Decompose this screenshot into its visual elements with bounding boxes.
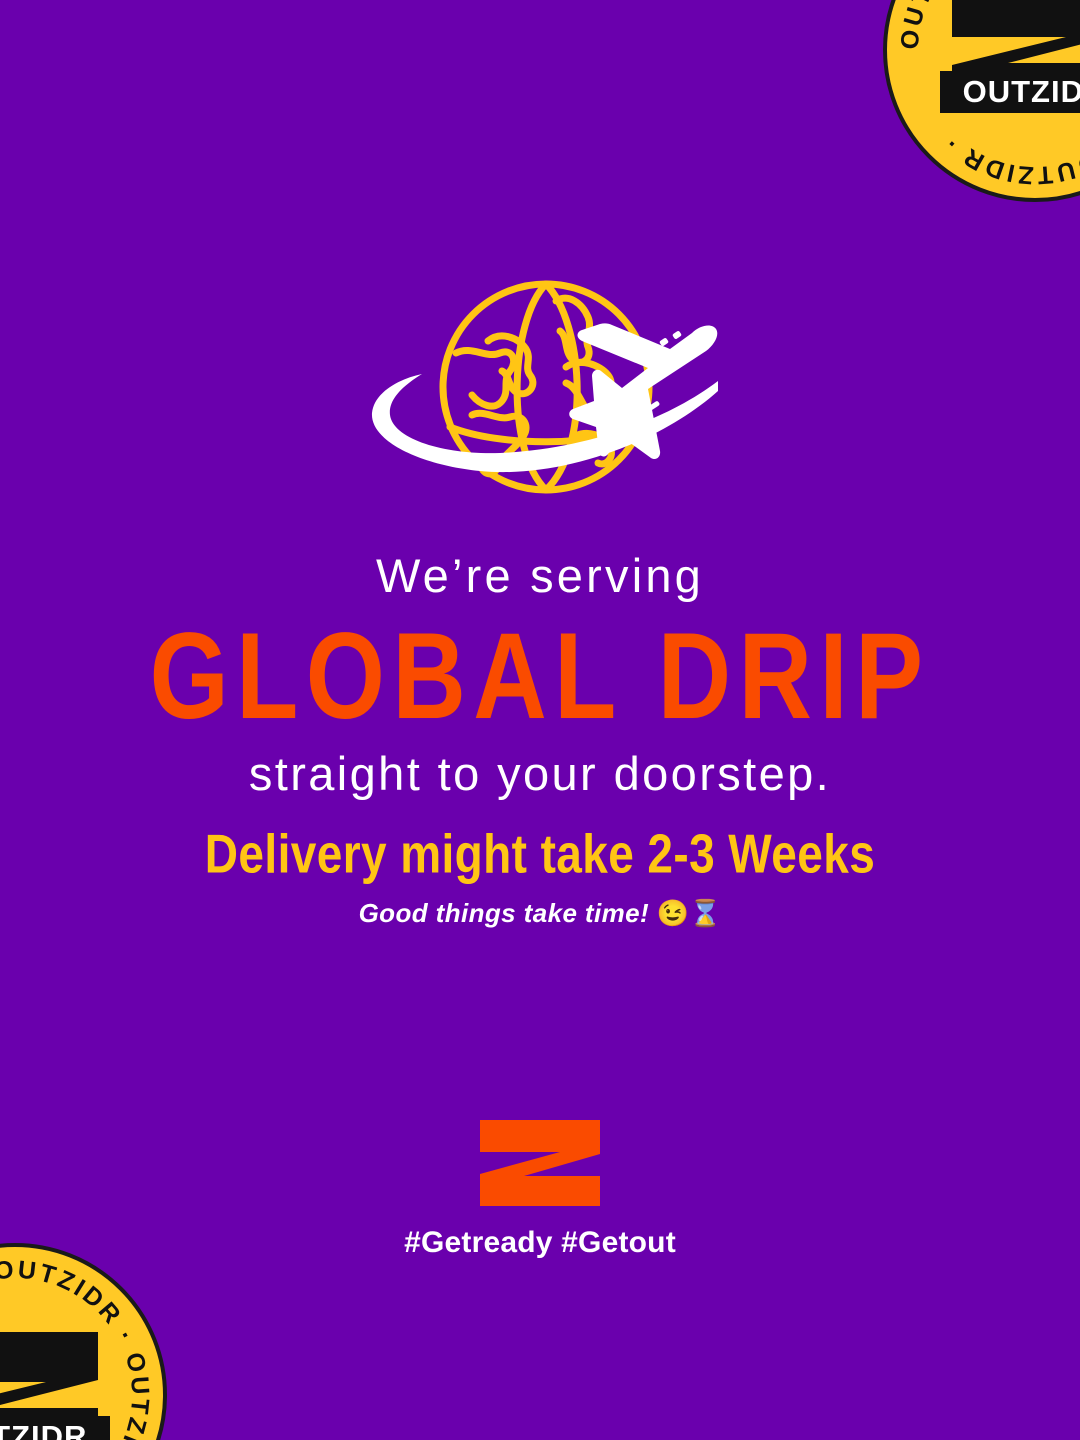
delivery-notice-block: Delivery might take 2-3 Weeks Good thing… <box>0 822 1080 929</box>
delivery-subtext: Good things take time! 😉⌛ <box>0 898 1080 929</box>
globe-with-airplane-icon <box>360 275 720 510</box>
global-drip-headline: GLOBAL DRIP <box>0 613 1080 742</box>
delivery-headline: Delivery might take 2-3 Weeks <box>0 822 1080 886</box>
winking-face-emoji-icon: 😉 <box>657 898 689 928</box>
hashtags-line: #Getready #Getout <box>0 1226 1080 1260</box>
badge-wordmark: OUTZIDR <box>940 71 1080 113</box>
outzidr-z-logo-icon <box>476 1118 604 1208</box>
hourglass-emoji-icon: ⌛ <box>689 898 721 928</box>
delivery-subtext-label: Good things take time! <box>359 898 649 928</box>
footer-brand-block: #Getready #Getout <box>0 1118 1080 1260</box>
svg-text:OUTZIDR: OUTZIDR <box>963 74 1080 109</box>
badge-wordmark: OUTZIDR <box>0 1416 110 1440</box>
poster-canvas: OUTZIDR · OUTZIDR · OUTZIDR · OUTZIDR · … <box>0 0 1080 1440</box>
brand-badge-top-right: OUTZIDR · OUTZIDR · OUTZIDR · OUTZIDR · … <box>880 0 1080 205</box>
headline-block: We’re serving GLOBAL DRIP straight to yo… <box>0 548 1080 802</box>
doorstep-line: straight to your doorstep. <box>0 746 1080 801</box>
svg-text:OUTZIDR: OUTZIDR <box>0 1419 87 1440</box>
orbit-swoosh-icon <box>372 374 718 472</box>
serving-line: We’re serving <box>0 548 1080 603</box>
brand-badge-bottom-left: OUTZIDR · OUTZIDR · OUTZIDR · OUTZIDR · … <box>0 1240 170 1440</box>
